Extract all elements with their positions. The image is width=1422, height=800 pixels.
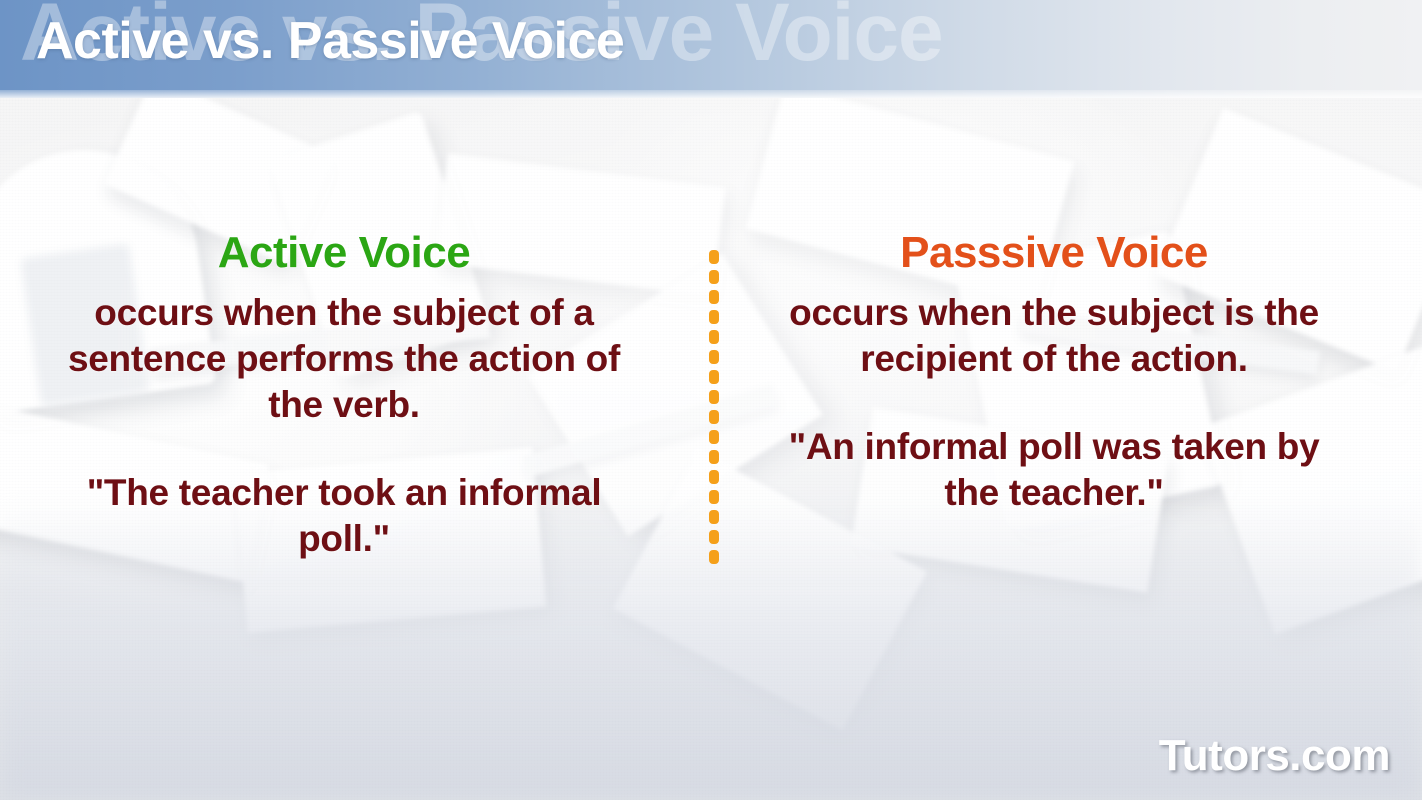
column-heading-active: Active Voice bbox=[48, 230, 640, 276]
column-heading-passive: Passsive Voice bbox=[758, 230, 1350, 276]
column-example-active: "The teacher took an informal poll." bbox=[48, 470, 640, 562]
column-passive-voice: Passsive Voice occurs when the subject i… bbox=[734, 230, 1374, 516]
divider-dot bbox=[709, 370, 719, 384]
divider-dot bbox=[709, 530, 719, 544]
divider-dot bbox=[709, 310, 719, 324]
page-title: Active vs. Passive Voice bbox=[36, 15, 624, 67]
slide-root: Active vs. Passive Voice Active vs. Pass… bbox=[0, 0, 1422, 800]
header-band: Active vs. Passive Voice Active vs. Pass… bbox=[0, 0, 1422, 98]
divider-dot bbox=[709, 270, 719, 284]
column-example-passive: "An informal poll was taken by the teach… bbox=[758, 424, 1350, 516]
divider-dot bbox=[709, 290, 719, 304]
divider-dot bbox=[709, 470, 719, 484]
column-definition-active: occurs when the subject of a sentence pe… bbox=[48, 290, 640, 428]
divider-dot bbox=[709, 510, 719, 524]
brand-logo: Tutors.com bbox=[1159, 734, 1390, 778]
divider-dot bbox=[709, 330, 719, 344]
divider-dot bbox=[709, 410, 719, 424]
divider-dot bbox=[709, 490, 719, 504]
divider-dot bbox=[709, 350, 719, 364]
column-definition-passive: occurs when the subject is the recipient… bbox=[758, 290, 1350, 382]
column-divider bbox=[709, 250, 719, 563]
divider-dot bbox=[709, 450, 719, 464]
divider-dot bbox=[709, 550, 719, 564]
column-active-voice: Active Voice occurs when the subject of … bbox=[24, 230, 664, 562]
divider-dot bbox=[709, 430, 719, 444]
divider-dot bbox=[709, 390, 719, 404]
divider-dot bbox=[709, 250, 719, 264]
